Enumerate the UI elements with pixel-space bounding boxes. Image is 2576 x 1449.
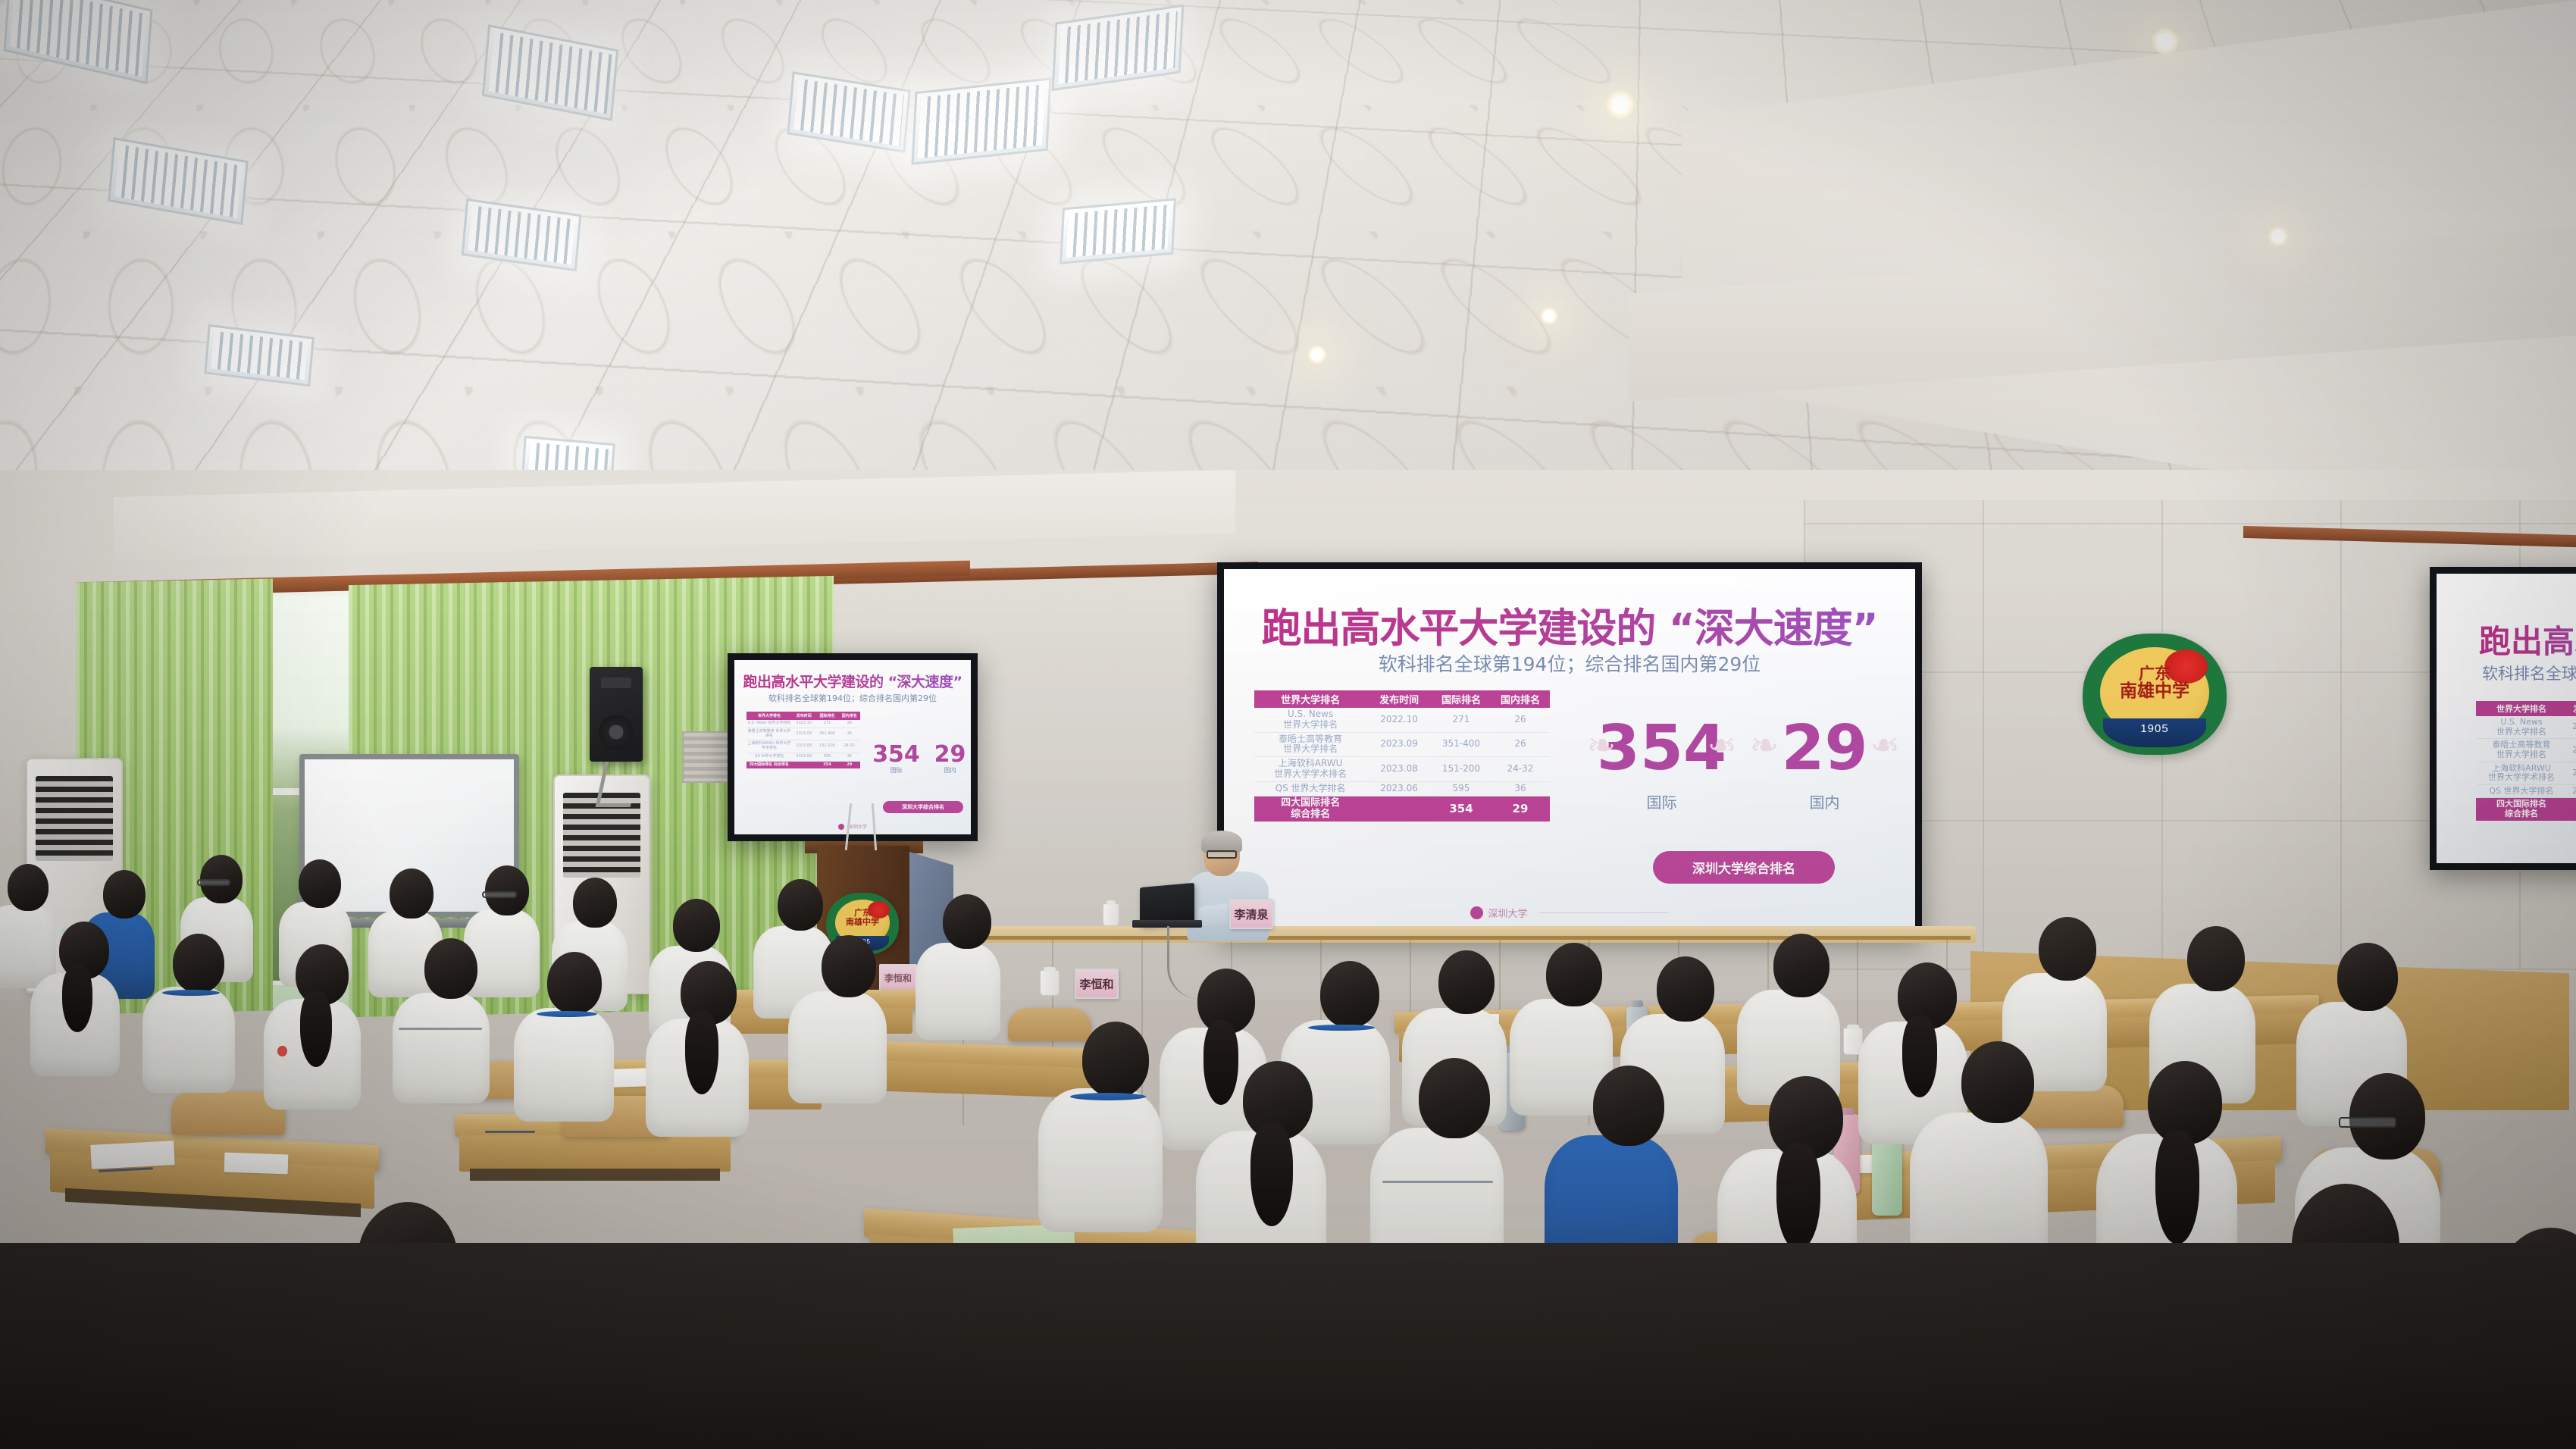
ranking-table: 世界大学排名 发布时间 国际排名 国内排名 U.S. News 世界大学排名20… [747, 712, 860, 768]
table-cell-domestic: 29 [1491, 796, 1550, 822]
ceiling-downlight [2151, 27, 2180, 56]
table-cell-name: 上海软科ARWU 世界大学学术排名 [747, 740, 792, 753]
table-header-cell: 国际排名 [816, 712, 839, 720]
person-head [424, 938, 477, 999]
table-header-cell: 发布时间 [1366, 690, 1432, 708]
table-total-row: 四大国际排名 综合排名 354 29 [1254, 796, 1550, 822]
person-body [788, 991, 887, 1103]
presenter-nameplate: 李清泉 [1229, 899, 1273, 929]
stat-label: 国际 [1580, 790, 1743, 812]
school-crest-patch [277, 1046, 287, 1056]
table-header-cell: 世界大学排名 [2476, 701, 2567, 716]
table-cell-domestic: 24-32 [1491, 757, 1550, 782]
ponytail [1250, 1123, 1293, 1226]
stat-domestic: ❧ ❧ 29 国内 [1743, 718, 1906, 831]
stat-international: ❧ ❧ 354 国际 [1580, 718, 1743, 831]
table-row: 泰晤士高等教育 世界大学排名2023.09351-40026 [747, 728, 860, 740]
water-cup [1103, 903, 1119, 926]
table-cell-date [1366, 796, 1432, 822]
person-head [1593, 1066, 1664, 1146]
uniform-collar [1070, 1093, 1146, 1100]
table-header-row: 世界大学排名 发布时间 国际排名 国内排名 [747, 712, 860, 720]
table-cell-intl: 595 [1432, 781, 1491, 796]
table-cell-domestic: 26 [839, 720, 861, 728]
person-head [1438, 950, 1495, 1014]
person-body [142, 987, 235, 1093]
person-head [822, 935, 876, 997]
desk-paper [90, 1141, 175, 1169]
table-header-cell: 国际排名 [1432, 690, 1491, 708]
ponytail [1203, 1020, 1238, 1105]
table-cell-date: 2023.09 [1366, 732, 1432, 757]
person-head [1546, 943, 1602, 1006]
person-head [1657, 956, 1714, 1022]
audience-nameplate: 李恒和 [1075, 969, 1119, 999]
secondary-display-left[interactable]: 跑出高水平大学建设的 “深大速度” 软科排名全球第194位；综合排名国内第29位… [728, 653, 978, 841]
ranking-stats: ❧ ❧ 354 国际 ❧ ❧ 29 国内 [1580, 718, 1906, 831]
person-body [916, 943, 1000, 1040]
speaker-woofer [599, 715, 634, 750]
glasses-icon [1207, 850, 1237, 859]
ponytail [62, 965, 92, 1032]
floor [0, 1243, 2576, 1449]
ponytail [2155, 1131, 2199, 1244]
table-cell-name: 四大国际排名 综合排名 [2476, 798, 2567, 821]
table-cell-date [2567, 798, 2576, 821]
ranking-badge: 深圳大学综合排名 [883, 801, 963, 813]
table-row: QS 世界大学排名2023.0659536 [747, 753, 860, 761]
person-head [2039, 917, 2096, 981]
table-cell-name: 泰晤士高等教育 世界大学排名 [1254, 732, 1366, 757]
slide-subtitle: 软科排名全球第194位；综合排名国内第29位 [1224, 649, 1915, 677]
table-header-cell: 国内排名 [839, 712, 861, 720]
laurel-wreath-icon: ❧ [1870, 724, 1900, 765]
table-cell-date: 2023.09 [792, 728, 816, 740]
ranking-badge: 深圳大学综合排名 [1653, 851, 1835, 884]
table-cell-domestic: 24-32 [839, 740, 861, 753]
slide-subtitle: 软科排名全球第194位；综合排名国内第29位 [734, 692, 971, 704]
uniform-stripe [1382, 1181, 1493, 1183]
table-cell-domestic: 36 [1491, 781, 1550, 796]
secondary-display-right[interactable]: 跑出高水平大学建设的 “深大速度” 软科排名全球第194位；综合排名国内第29位… [2430, 567, 2576, 870]
table-header-cell: 发布时间 [2567, 701, 2576, 716]
laurel-wreath-icon: ❧ [1587, 724, 1617, 765]
glasses-icon [482, 891, 517, 898]
air-conditioner-grill [36, 776, 113, 861]
table-cell-date [792, 761, 816, 768]
ponytail [1902, 1016, 1937, 1097]
stat-value: 29 [923, 743, 971, 766]
person-head [2337, 943, 2398, 1011]
table-total-row: 四大国际排名 综合排名35429 [2476, 798, 2576, 821]
water-cup [1040, 970, 1060, 996]
ponytail [300, 991, 332, 1067]
desk-paper [224, 1153, 289, 1175]
table-cell-name: QS 世界大学排名 [1254, 781, 1366, 796]
university-logo-text: 深圳大学 [1488, 906, 1527, 920]
stat-value: 354 [869, 743, 923, 766]
person-head [673, 899, 720, 952]
person-head [390, 868, 434, 919]
table-cell-intl: 151-200 [1432, 757, 1491, 782]
slide-footer: 深圳大学 [734, 823, 971, 830]
ranking-table: 世界大学排名 发布时间 国际排名 国内排名 U.S. News 世界大学排名 2… [1254, 690, 1550, 822]
table-cell-name: 四大国际排名 综合排名 [1254, 796, 1366, 822]
student-desk-front [459, 1135, 731, 1172]
slide-right-copy: 跑出高水平大学建设的 “深大速度” 软科排名全球第194位；综合排名国内第29位… [2437, 574, 2576, 863]
emblem-school-name: 广东 南雄中学 [826, 909, 899, 926]
emblem-name-line2: 南雄中学 [2083, 682, 2227, 700]
table-row: QS 世界大学排名 2023.06 595 36 [1254, 781, 1550, 796]
table-cell-intl: 271 [816, 720, 839, 728]
table-cell-date: 2022.10 [2567, 716, 2576, 739]
wall-vent [682, 731, 729, 783]
table-cell-domestic: 29 [839, 761, 861, 768]
table-row: 上海软科ARWU 世界大学学术排名2023.08151-20024-32 [747, 740, 860, 753]
table-header-cell: 国内排名 [1491, 690, 1550, 708]
table-row: U.S. News 世界大学排名2022.1027126 [2476, 716, 2576, 739]
desk-pen [485, 1131, 535, 1133]
stat-domestic: 29 国内 [923, 743, 971, 790]
person-head [1082, 1022, 1149, 1097]
slide-left-copy: 跑出高水平大学建设的 “深大速度” 软科排名全球第194位；综合排名国内第29位… [734, 660, 971, 834]
person-head [778, 879, 823, 931]
main-projection-screen[interactable]: 跑出高水平大学建设的 “深大速度” 软科排名全球第194位；综合排名国内第29位… [1217, 562, 1922, 937]
slide-main: 跑出高水平大学建设的 “深大速度” 软科排名全球第194位；综合排名国内第29位… [1224, 569, 1915, 930]
table-cell-date: 2022.10 [792, 720, 816, 728]
table-header-cell: 世界大学排名 [747, 712, 792, 720]
uniform-collar [1308, 1025, 1375, 1031]
table-row: 泰晤士高等教育 世界大学排名2023.09351-40026 [2476, 739, 2576, 762]
ranking-stats: 354 国际 29 国内 [869, 743, 971, 790]
water-thermos [1872, 1137, 1902, 1216]
ponytail [685, 1011, 718, 1094]
person-body [1038, 1088, 1163, 1232]
person-head [485, 865, 529, 915]
table-cell-intl: 354 [1432, 796, 1491, 822]
table-header-cell: 发布时间 [792, 712, 816, 720]
table-cell-date: 2023.09 [2567, 739, 2576, 762]
table-header-row: 世界大学排名 发布时间 国际排名 国内排名 [2476, 701, 2576, 716]
table-cell-domestic: 26 [839, 728, 861, 740]
lecture-hall-photo: 跑出高水平大学建设的 “深大速度” 软科排名全球第194位；综合排名国内第29位… [0, 0, 2576, 1449]
table-row: QS 世界大学排名2023.0659536 [2476, 784, 2576, 798]
table-cell-date: 2023.06 [792, 753, 816, 761]
table-cell-domestic: 36 [839, 753, 861, 761]
table-header-row: 世界大学排名 发布时间 国际排名 国内排名 [1254, 690, 1550, 708]
person-head [299, 859, 341, 908]
person-body [464, 909, 540, 997]
audience-nameplate: 李恒和 [879, 964, 917, 991]
table-cell-name: U.S. News 世界大学排名 [1254, 708, 1366, 732]
slide-title: 跑出高水平大学建设的 “深大速度” [2479, 616, 2576, 662]
table-row: 上海软科ARWU 世界大学学术排名 2023.08 151-200 24-32 [1254, 757, 1550, 782]
laurel-wreath-icon: ❧ [1750, 724, 1779, 765]
table-cell-intl: 354 [816, 761, 839, 768]
wall-speaker [590, 667, 643, 762]
person-head [943, 894, 991, 949]
person-head [2187, 926, 2245, 991]
laurel-wreath-icon: ❧ [1707, 724, 1737, 765]
emblem-school-name: 广东 南雄中学 [2083, 665, 2227, 700]
person-head [2349, 1073, 2425, 1160]
person-head [1419, 1058, 1490, 1138]
desk-book-shelf [470, 1169, 720, 1181]
table-cell-name: QS 世界大学排名 [2476, 784, 2567, 798]
emblem-name-line2: 南雄中学 [826, 918, 899, 927]
ceiling-downlight [1540, 307, 1558, 325]
table-cell-name: QS 世界大学排名 [747, 753, 792, 761]
emblem-name-line1: 广东 [2083, 665, 2227, 682]
stat-label: 国内 [1743, 790, 1906, 812]
slide-title: 跑出高水平大学建设的 “深大速度” [734, 671, 971, 691]
university-logo-text: 深圳大学 [849, 823, 867, 830]
uniform-collar [537, 1011, 597, 1017]
slide-title: 跑出高水平大学建设的 “深大速度” [1224, 596, 1915, 654]
stat-international: 354 国际 [869, 743, 923, 790]
person-head [8, 864, 49, 911]
person-head [573, 878, 617, 928]
table-cell-domestic: 26 [1491, 732, 1550, 757]
ranking-table: 世界大学排名 发布时间 国际排名 国内排名 U.S. News 世界大学排名20… [2476, 701, 2576, 821]
table-row: 上海软科ARWU 世界大学学术排名2023.08151-20024-32 [2476, 762, 2576, 784]
table-cell-date: 2023.06 [1366, 781, 1432, 796]
person-head [547, 952, 602, 1014]
table-cell-intl: 351-400 [1432, 732, 1491, 757]
table-cell-intl: 351-400 [816, 728, 839, 740]
table-total-row: 四大国际排名 综合排名35429 [747, 761, 860, 768]
school-emblem-wall: 广东 南雄中学 1905 [2083, 634, 2227, 755]
speaker-tweeter [601, 678, 631, 688]
person-head [173, 934, 224, 993]
footer-rule [1540, 912, 1669, 913]
university-logo-mark [838, 824, 844, 830]
uniform-stripe [399, 1028, 482, 1030]
ceiling-downlight [1605, 89, 1635, 120]
table-cell-intl: 151-200 [816, 740, 839, 753]
table-cell-intl: 271 [1432, 708, 1491, 732]
table-cell-name: 泰晤士高等教育 世界大学排名 [747, 728, 792, 740]
table-cell-name: U.S. News 世界大学排名 [747, 720, 792, 728]
table-header-cell: 世界大学排名 [1254, 690, 1366, 708]
slide-subtitle: 软科排名全球第194位；综合排名国内第29位 [2482, 662, 2576, 684]
person-head [1961, 1041, 2034, 1123]
ceiling-downlight [2268, 226, 2289, 247]
table-row: 泰晤士高等教育 世界大学排名 2023.09 351-400 26 [1254, 732, 1550, 757]
table-cell-date: 2022.10 [1366, 708, 1432, 732]
person-head [1773, 934, 1829, 997]
emblem-founding-year: 1905 [2103, 718, 2207, 747]
person-head [1320, 961, 1379, 1028]
university-logo-mark [1470, 906, 1483, 919]
table-cell-name: 上海软科ARWU 世界大学学术排名 [2476, 762, 2567, 784]
table-cell-date: 2023.08 [792, 740, 816, 753]
table-cell-name: 上海软科ARWU 世界大学学术排名 [1254, 757, 1366, 782]
table-cell-name: U.S. News 世界大学排名 [2476, 716, 2567, 739]
ceiling-troffer-light [911, 77, 1051, 164]
slide-footer: 深圳大学 [1224, 906, 1915, 920]
table-cell-domestic: 26 [1491, 708, 1550, 732]
uniform-collar [162, 990, 220, 996]
ponytail [1776, 1143, 1820, 1250]
table-row: U.S. News 世界大学排名2022.1027126 [747, 720, 860, 728]
table-cell-date: 2023.08 [1366, 757, 1432, 782]
chair-back [1008, 1008, 1091, 1041]
person-body [514, 1008, 614, 1122]
person-body [393, 993, 490, 1103]
table-cell-name: 四大国际排名 综合排名 [747, 761, 792, 768]
glasses-icon [2339, 1117, 2396, 1128]
table-cell-date: 2023.08 [2567, 762, 2576, 784]
person-head [103, 870, 146, 919]
ceiling-troffer-light [1060, 198, 1176, 264]
table-cell-name: 泰晤士高等教育 世界大学排名 [2476, 739, 2567, 762]
table-cell-date: 2023.06 [2567, 784, 2576, 798]
table-cell-intl: 595 [816, 753, 839, 761]
ceiling-downlight [1307, 345, 1327, 365]
glasses-icon [197, 879, 230, 886]
table-row: U.S. News 世界大学排名 2022.10 271 26 [1254, 708, 1550, 732]
